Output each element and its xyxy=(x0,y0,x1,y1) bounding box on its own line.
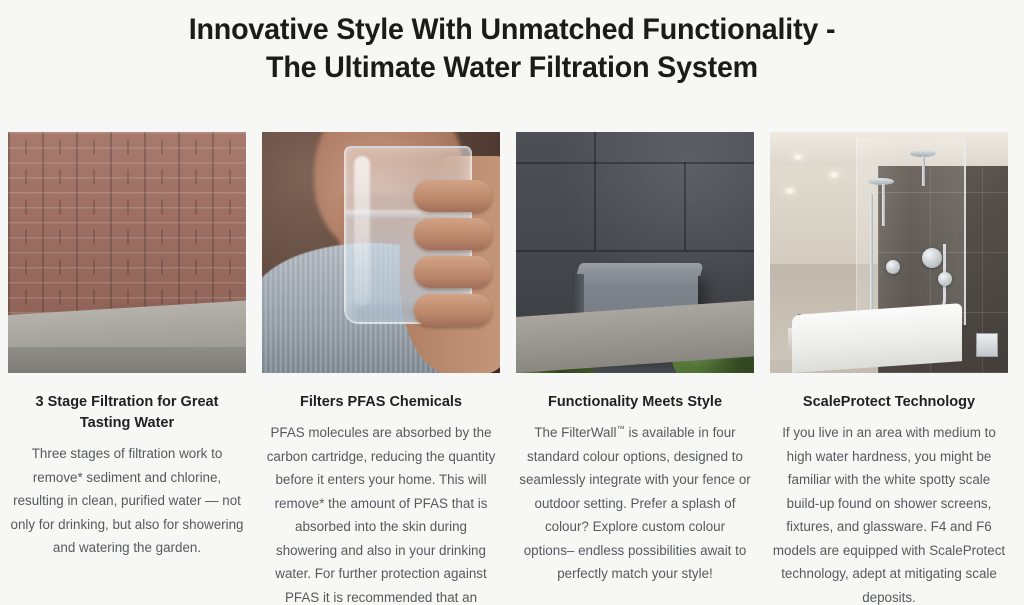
pavement-edge xyxy=(8,347,246,373)
feature-body: The FilterWall™ is available in four sta… xyxy=(516,421,754,586)
enclosure-lid xyxy=(576,263,704,276)
panel-seam xyxy=(684,162,686,250)
feature-title: 3 Stage Filtration for Great Tasting Wat… xyxy=(8,392,246,434)
trademark-icon: ™ xyxy=(616,424,624,434)
marketing-feature-section: Innovative Style With Unmatched Function… xyxy=(0,11,1024,605)
downlight-icon xyxy=(828,172,840,178)
finger xyxy=(414,180,492,212)
brick-wall-filtration-unit-photo xyxy=(8,132,246,373)
panel-seam xyxy=(516,250,754,252)
feature-body-suffix: is available in four standard colour opt… xyxy=(519,425,750,581)
feature-column-3-stage-filtration: 3 Stage Filtration for Great Tasting Wat… xyxy=(8,132,246,560)
finger xyxy=(414,294,492,326)
downlight-icon xyxy=(784,188,796,194)
glass-shower-screen xyxy=(856,138,966,325)
page-title: Innovative Style With Unmatched Function… xyxy=(178,11,847,87)
feature-body: PFAS molecules are absorbed by the carbo… xyxy=(262,421,500,605)
wall-control-box xyxy=(976,333,998,357)
feature-body: If you live in an area with medium to hi… xyxy=(770,421,1008,605)
downlight-icon xyxy=(792,154,804,160)
bathtub xyxy=(792,303,962,373)
grey-filterwall-enclosure-concrete-wall-photo xyxy=(516,132,754,373)
feature-columns: 3 Stage Filtration for Great Tasting Wat… xyxy=(8,132,1016,605)
finger xyxy=(414,256,492,288)
feature-column-scaleprotect: ScaleProtect Technology If you live in a… xyxy=(770,132,1008,605)
feature-column-functionality-style: Functionality Meets Style The FilterWall… xyxy=(516,132,754,586)
feature-body: Three stages of filtration work to remov… xyxy=(8,442,246,560)
feature-title: ScaleProtect Technology xyxy=(770,392,1008,413)
panel-seam xyxy=(516,162,754,164)
finger xyxy=(414,218,492,250)
brick-wall-texture xyxy=(8,132,246,328)
modern-bathroom-shower-screen-photo xyxy=(770,132,1008,373)
feature-body-prefix: The FilterWall xyxy=(534,425,616,440)
feature-title: Filters PFAS Chemicals xyxy=(262,392,500,413)
hand xyxy=(400,178,492,348)
feature-column-pfas: Filters PFAS Chemicals PFAS molecules ar… xyxy=(262,132,500,605)
feature-title: Functionality Meets Style xyxy=(516,392,754,413)
woman-drinking-glass-of-water-photo xyxy=(262,132,500,373)
panel-seam xyxy=(594,132,596,250)
